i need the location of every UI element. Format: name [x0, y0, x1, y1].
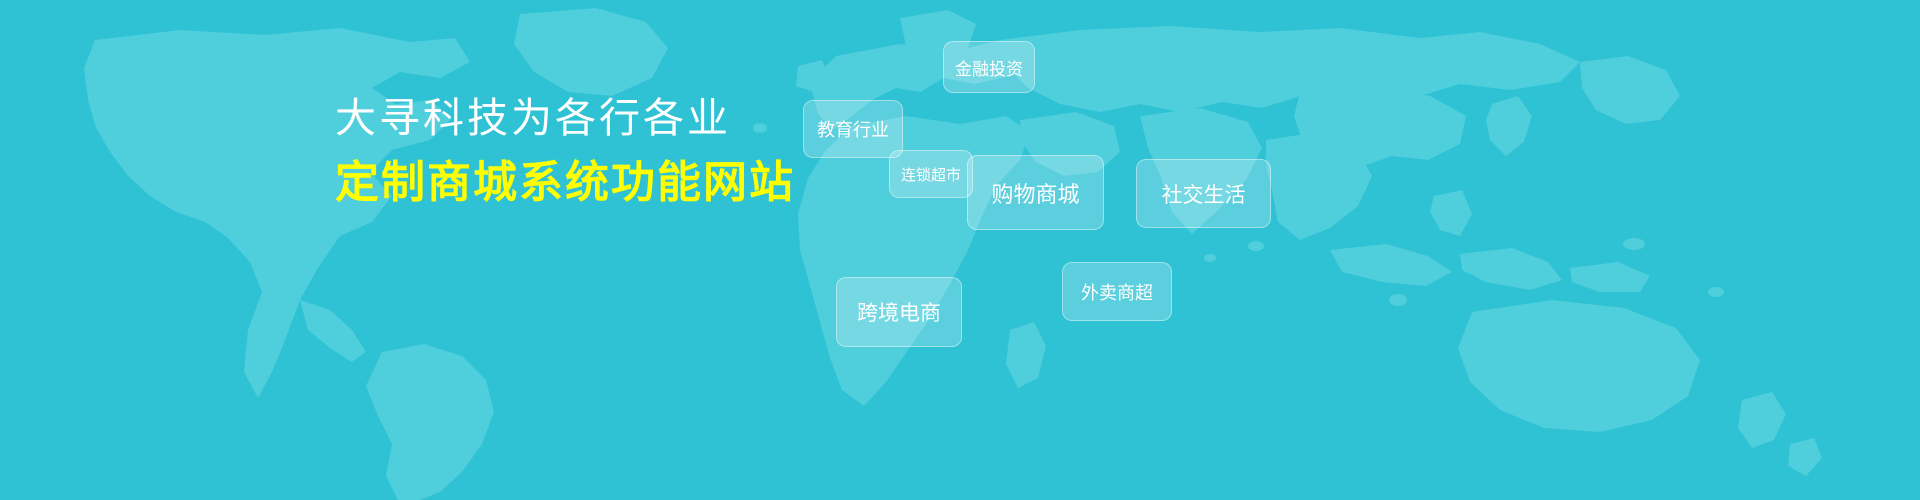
badge-finance-investment[interactable]: 金融投资	[943, 41, 1035, 93]
badge-label: 连锁超市	[901, 164, 961, 185]
badge-takeout-supermarket[interactable]: 外卖商超	[1062, 262, 1172, 321]
badge-education-industry[interactable]: 教育行业	[803, 100, 903, 158]
headline-primary: 大寻科技为各行各业	[335, 98, 1035, 139]
hero-banner: 大寻科技为各行各业 定制商城系统功能网站 金融投资 教育行业 连锁超市 购物商城…	[0, 0, 1920, 500]
badge-label: 社交生活	[1162, 179, 1246, 209]
badge-label: 跨境电商	[857, 297, 941, 327]
badge-shopping-mall[interactable]: 购物商城	[967, 155, 1104, 230]
badge-chain-supermarket[interactable]: 连锁超市	[889, 150, 973, 198]
badge-label: 教育行业	[817, 116, 889, 142]
badge-cross-border-ecommerce[interactable]: 跨境电商	[836, 277, 962, 347]
badge-label: 外卖商超	[1081, 279, 1153, 305]
badge-label: 金融投资	[955, 55, 1023, 80]
badge-social-life[interactable]: 社交生活	[1136, 159, 1271, 228]
badge-label: 购物商城	[991, 177, 1079, 209]
